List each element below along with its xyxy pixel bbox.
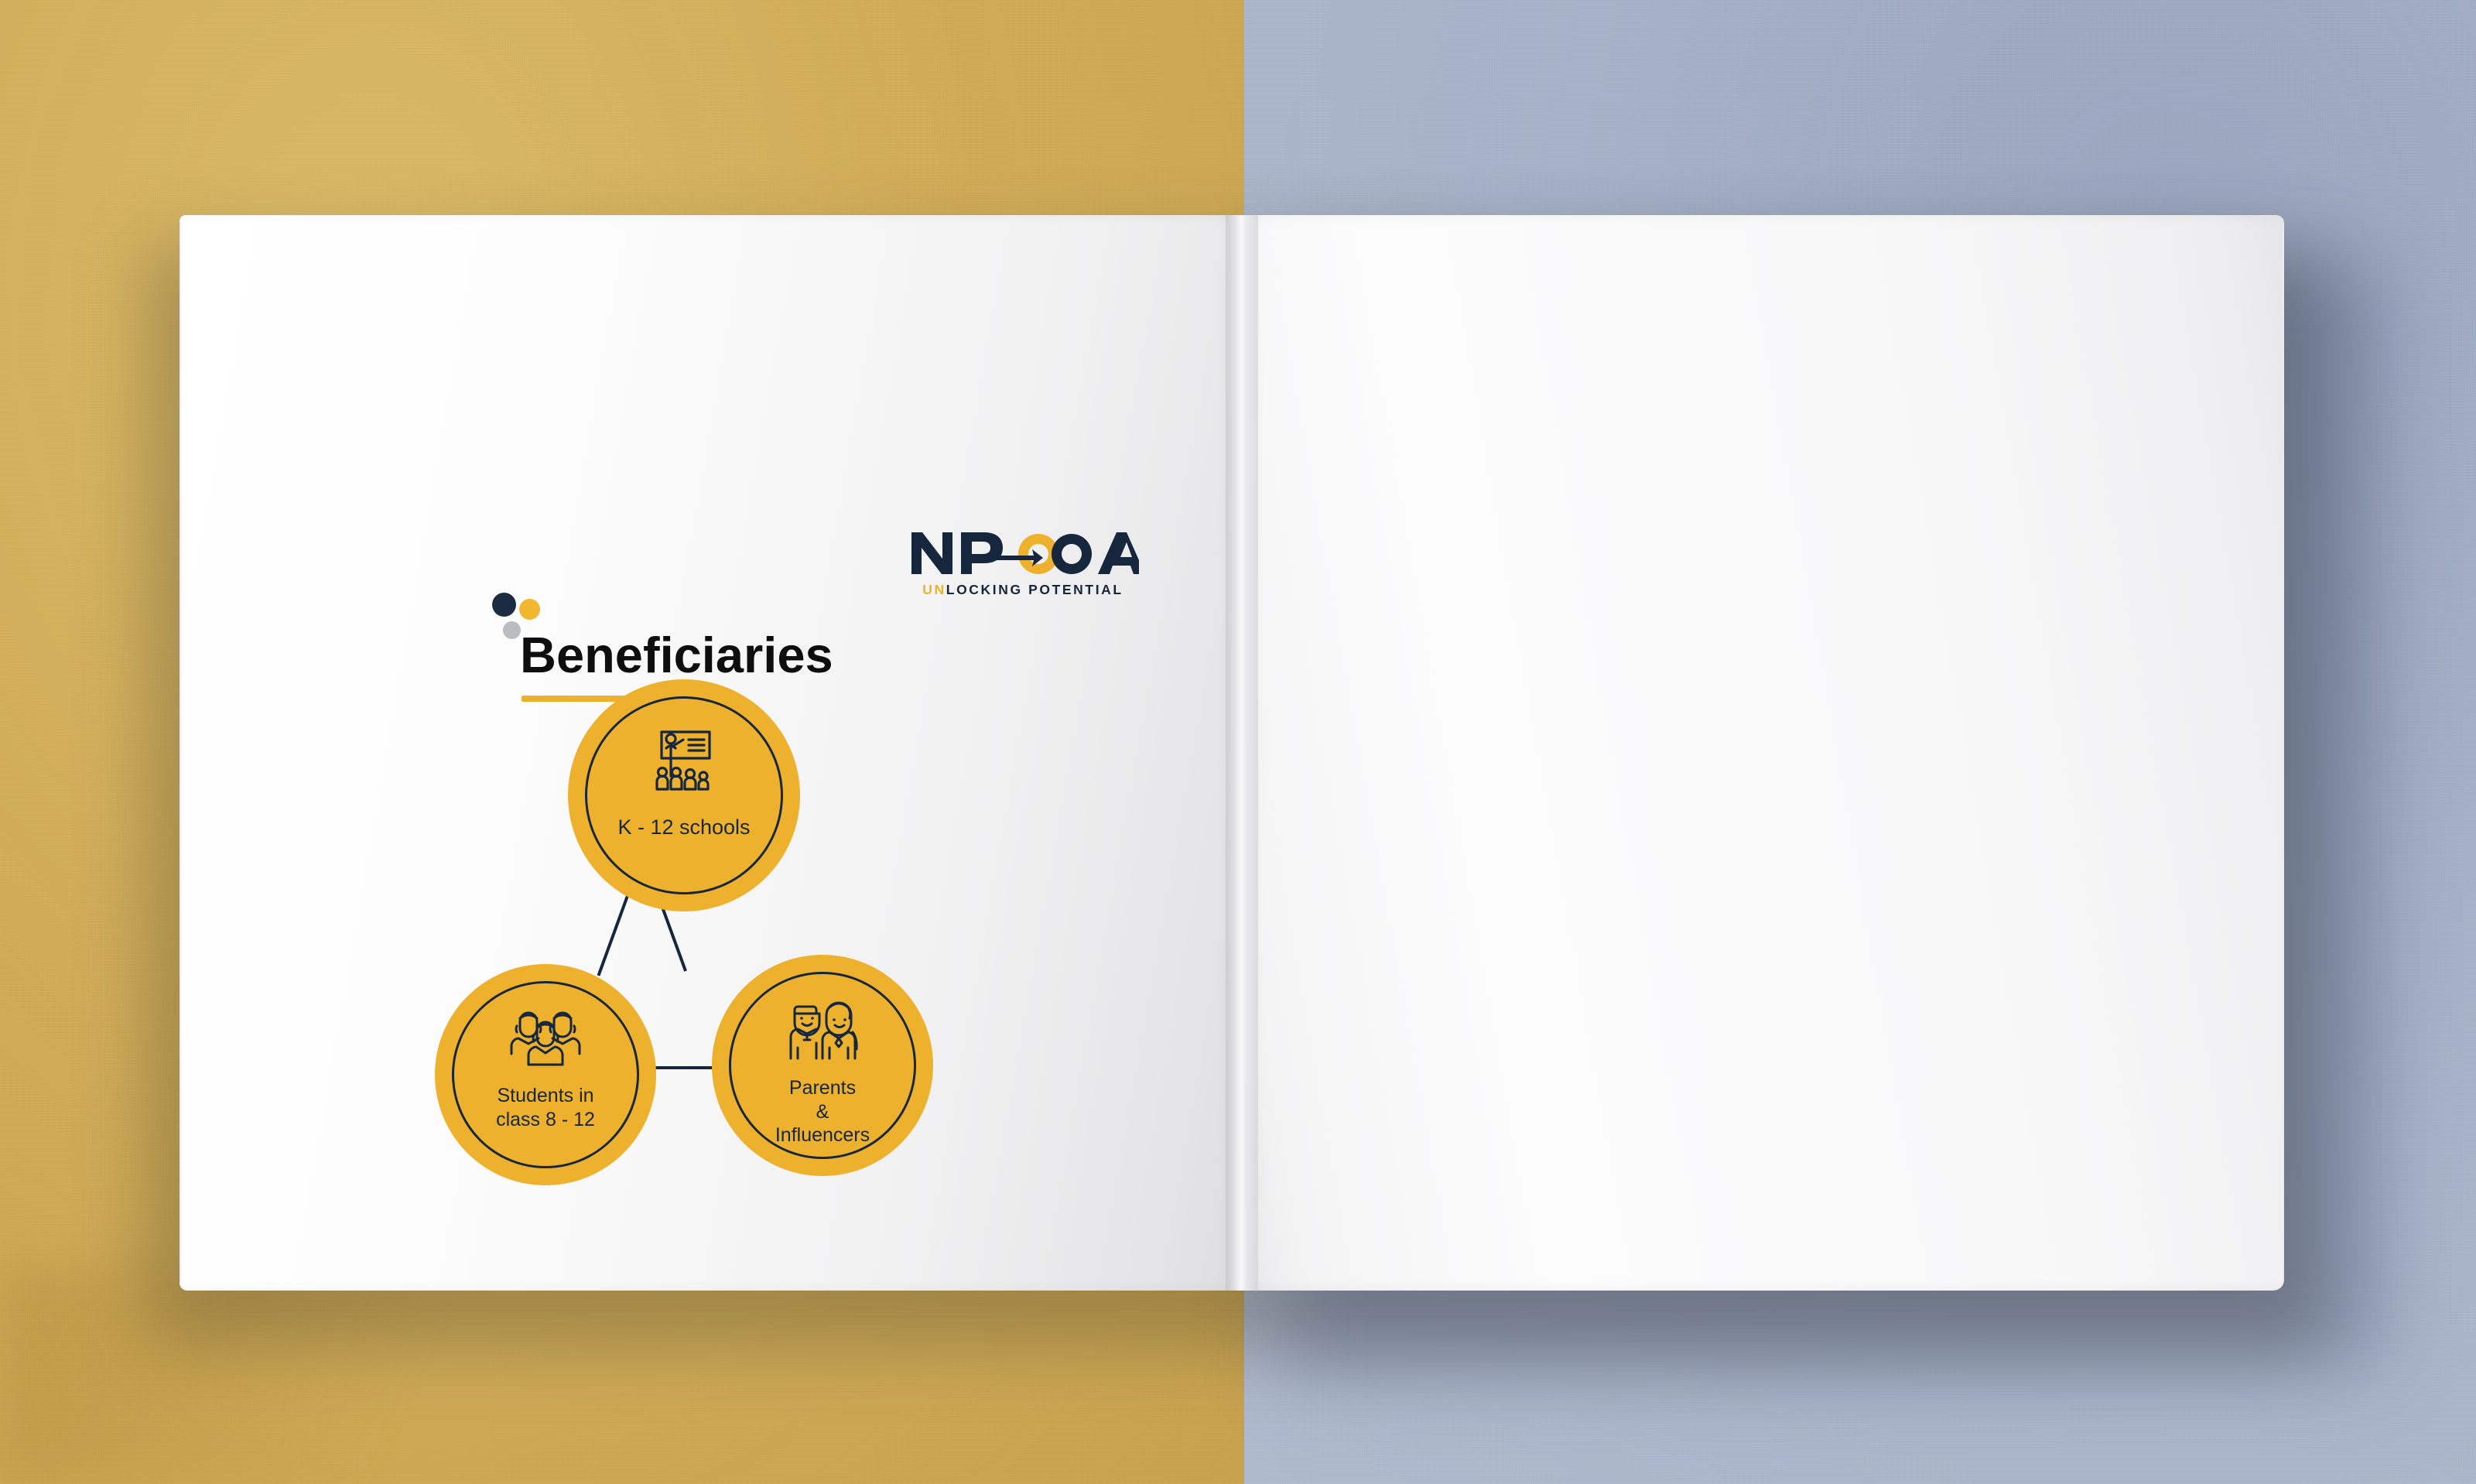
beneficiaries-diagram: K - 12 schools: [435, 679, 976, 1252]
teacher-classroom-icon: [645, 727, 723, 802]
parents-couple-icon: [786, 1000, 859, 1065]
node-parents-influencers[interactable]: Parents & Influencers: [712, 955, 933, 1176]
node-k12-schools[interactable]: K - 12 schools: [568, 679, 800, 911]
node-label: Students in class 8 - 12: [496, 1084, 595, 1131]
page-right: UNLOCKING POTENTIAL Our Presence: [1240, 215, 2284, 1291]
page-left: UNLOCKING POTENTIAL Beneficiaries: [180, 215, 1240, 1291]
npoca-wordmark-icon: [907, 525, 1139, 580]
grey-dot-icon: [503, 621, 521, 639]
navy-dot-icon: [492, 593, 516, 617]
tagline-accent: UN: [922, 582, 946, 597]
node-label: K - 12 schools: [617, 815, 750, 840]
page-title: Beneficiaries: [520, 630, 833, 680]
node-students[interactable]: Students in class 8 - 12: [435, 964, 656, 1185]
connector-line: [653, 1066, 715, 1069]
npoca-tagline: UNLOCKING POTENTIAL: [907, 582, 1139, 598]
open-brochure: UNLOCKING POTENTIAL Beneficiaries: [180, 215, 2284, 1291]
node-label: Parents & Influencers: [775, 1076, 870, 1147]
npoca-logo-left: UNLOCKING POTENTIAL: [907, 525, 1139, 598]
connector-line: [597, 894, 630, 976]
tagline-rest: LOCKING POTENTIAL: [946, 582, 1123, 597]
students-group-icon: [507, 1009, 584, 1073]
gold-dot-icon: [519, 599, 540, 620]
